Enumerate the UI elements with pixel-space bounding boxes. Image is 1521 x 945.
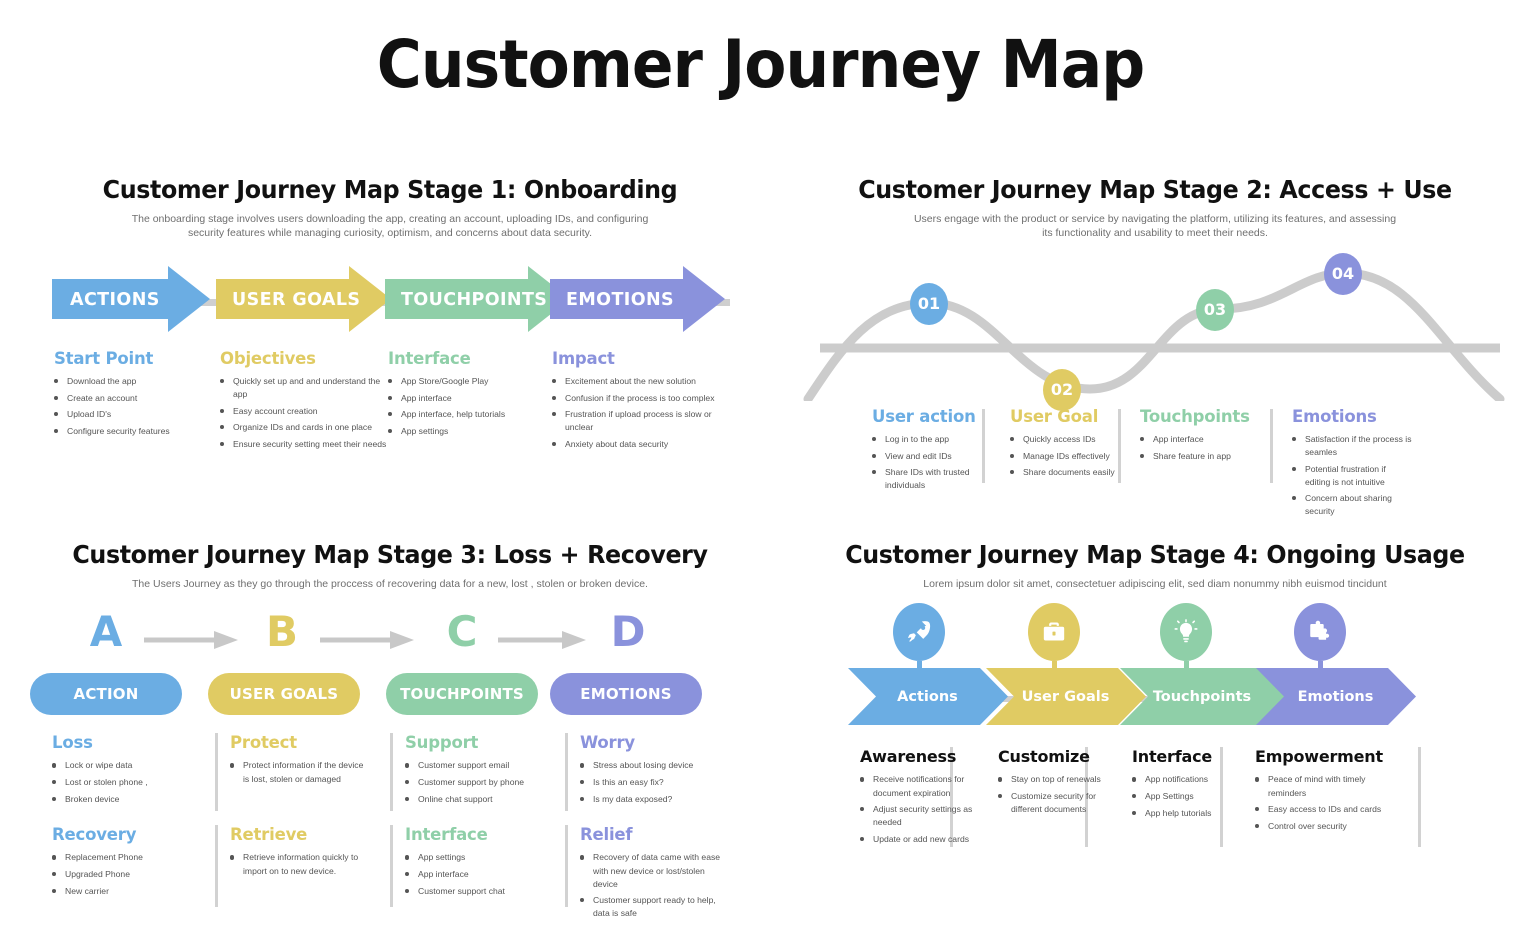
bullet-list: Quickly set up and and understand the ap… [220, 375, 395, 451]
list-item: App Store/Google Play [388, 375, 558, 388]
stage-1-panel: Customer Journey Map Stage 1: Onboarding… [20, 175, 760, 505]
page-title: Customer Journey Map [53, 26, 1468, 103]
list-item: Is my data exposed? [580, 793, 730, 806]
list-item: Easy access to IDs and cards [1255, 803, 1385, 816]
stage-2-title: Customer Journey Map Stage 2: Access + U… [818, 175, 1493, 204]
column-touchpoints: Touchpoints App interfaceShare feature i… [1140, 407, 1260, 466]
column-user-goal: User Goal Quickly access IDsManage IDs e… [1010, 407, 1115, 483]
column-heading: Support [405, 733, 555, 752]
column-heading: Objectives [220, 349, 395, 368]
column-divider [390, 733, 393, 811]
arrow-label-emotions[interactable]: EMOTIONS [550, 263, 720, 335]
list-item: Lock or wipe data [52, 759, 202, 772]
chevron-user-goals[interactable]: User Goals [988, 668, 1143, 725]
column-heading: Start Point [54, 349, 204, 368]
column-heading: Retrieve [230, 825, 375, 844]
column-support: Support Customer support emailCustomer s… [405, 733, 555, 809]
list-item: App notifications [1132, 773, 1247, 786]
pin-head [1160, 603, 1212, 661]
bullet-list: Peace of mind with timely remindersEasy … [1255, 773, 1385, 832]
stage-3-columns-row1: Loss Lock or wipe dataLost or stolen pho… [20, 733, 760, 823]
arrow-label-user-goals[interactable]: USER GOALS [216, 263, 386, 335]
pin-head [1028, 603, 1080, 661]
stage-4-title: Customer Journey Map Stage 4: Ongoing Us… [818, 540, 1493, 569]
stage-3-title: Customer Journey Map Stage 3: Loss + Rec… [39, 540, 742, 569]
list-item: Is this an easy fix? [580, 776, 730, 789]
stage-3-panel: Customer Journey Map Stage 3: Loss + Rec… [20, 540, 760, 930]
column-protect: Protect Protect information if the devic… [230, 733, 370, 789]
list-item: Download the app [54, 375, 204, 388]
pill-action[interactable]: ACTION [30, 673, 182, 715]
bullet-list: Quickly access IDsManage IDs effectively… [1010, 433, 1115, 479]
bullet-list: Protect information if the device is los… [230, 759, 370, 785]
column-heading: Interface [405, 825, 555, 844]
column-impact: Impact Excitement about the new solution… [552, 349, 717, 454]
list-item: Excitement about the new solution [552, 375, 717, 388]
lightbulb-icon [1173, 619, 1199, 645]
column-objectives: Objectives Quickly set up and and unders… [220, 349, 395, 454]
column-worry: Worry Stress about losing deviceIs this … [580, 733, 730, 809]
briefcase-icon [1041, 619, 1067, 645]
column-interface: Interface App Store/Google PlayApp inter… [388, 349, 558, 441]
bullet-list: Excitement about the new solutionConfusi… [552, 375, 717, 451]
column-divider [565, 825, 568, 907]
list-item: Peace of mind with timely reminders [1255, 773, 1385, 799]
pill-user-goals[interactable]: USER GOALS [208, 673, 360, 715]
column-loss: Loss Lock or wipe dataLost or stolen pho… [52, 733, 202, 809]
bullet-list: Download the appCreate an accountUpload … [54, 375, 204, 438]
list-item: Customer support email [405, 759, 555, 772]
stage-2-columns: User action Log in to the appView and ed… [800, 407, 1510, 527]
stage-3-pill-row: ACTION USER GOALS TOUCHPOINTS EMOTIONS [20, 673, 760, 717]
letter-a: A [84, 611, 128, 653]
column-heading: User action [872, 407, 977, 426]
column-heading: Emotions [1292, 407, 1412, 426]
list-item: Potential frustration if editing is not … [1292, 463, 1412, 489]
column-recovery: Recovery Replacement PhoneUpgraded Phone… [52, 825, 202, 901]
chevron-actions[interactable]: Actions [850, 668, 1005, 725]
list-item: Receive notifications for document expir… [860, 773, 980, 799]
list-item: App interface [1140, 433, 1260, 446]
column-empowerment: Empowerment Peace of mind with timely re… [1255, 747, 1385, 836]
stage-2-subtitle: Users engage with the product or service… [800, 212, 1510, 241]
column-heading: Touchpoints [1140, 407, 1260, 426]
list-item: Upgraded Phone [52, 868, 202, 881]
list-item: App interface, help tutorials [388, 408, 558, 421]
list-item: Anxiety about data security [552, 438, 717, 451]
stage-4-columns: Awareness Receive notifications for docu… [800, 747, 1510, 867]
bullet-list: Log in to the appView and edit IDsShare … [872, 433, 977, 492]
letter-b: B [260, 611, 304, 653]
column-divider [390, 825, 393, 907]
column-interface: Interface App notificationsApp SettingsA… [1132, 747, 1247, 823]
list-item: Customer support by phone [405, 776, 555, 789]
pin-head [893, 603, 945, 661]
puzzle-icon [1307, 619, 1333, 645]
list-item: Customer support chat [405, 885, 555, 898]
bullet-list: App settingsApp interfaceCustomer suppor… [405, 851, 555, 897]
list-item: Recovery of data came with ease with new… [580, 851, 730, 890]
column-awareness: Awareness Receive notifications for docu… [860, 747, 980, 849]
column-divider [982, 409, 985, 483]
list-item: Ensure security setting meet their needs [220, 438, 395, 451]
list-item: Adjust security settings as needed [860, 803, 980, 829]
list-item: Manage IDs effectively [1010, 450, 1115, 463]
list-item: App settings [405, 851, 555, 864]
list-item: Configure security features [54, 425, 204, 438]
column-divider [1270, 409, 1273, 483]
list-item: View and edit IDs [872, 450, 977, 463]
bullet-list: Receive notifications for document expir… [860, 773, 980, 845]
flow-arrow-bc [320, 629, 416, 651]
list-item: Share feature in app [1140, 450, 1260, 463]
list-item: Customer support ready to help, data is … [580, 894, 730, 920]
column-heading: Protect [230, 733, 370, 752]
column-retrieve: Retrieve Retrieve information quickly to… [230, 825, 375, 881]
wave-curve [800, 251, 1510, 401]
list-item: Create an account [54, 392, 204, 405]
bullet-list: Lock or wipe dataLost or stolen phone ,B… [52, 759, 202, 805]
stage-2-wave: 01 02 03 04 [800, 251, 1510, 401]
bullet-list: Satisfaction if the process is seamlesPo… [1292, 433, 1412, 518]
wave-node-04[interactable]: 04 [1324, 253, 1362, 295]
column-heading: Awareness [860, 747, 980, 766]
list-item: Stress about losing device [580, 759, 730, 772]
list-item: Control over security [1255, 820, 1385, 833]
column-customize: Customize Stay on top of renewalsCustomi… [998, 747, 1113, 819]
column-divider [215, 733, 218, 811]
column-divider [1418, 747, 1421, 847]
list-item: Broken device [52, 793, 202, 806]
bullet-list: Replacement PhoneUpgraded PhoneNew carri… [52, 851, 202, 897]
list-item: Upload ID's [54, 408, 204, 421]
list-item: Retrieve information quickly to import o… [230, 851, 375, 877]
column-divider [1118, 409, 1121, 483]
stage-1-columns: Start Point Download the appCreate an ac… [20, 349, 760, 479]
column-emotions: Emotions Satisfaction if the process is … [1292, 407, 1412, 522]
stage-4-subtitle: Lorem ipsum dolor sit amet, consectetuer… [800, 577, 1510, 591]
stage-1-arrow-band: ACTIONS USER GOALS TOUCHPOINTS EMOTIONS [20, 263, 760, 341]
stage-3-columns-row2: Recovery Replacement PhoneUpgraded Phone… [20, 825, 760, 920]
pin-head [1294, 603, 1346, 661]
stage-2-panel: Customer Journey Map Stage 2: Access + U… [800, 175, 1510, 505]
column-heading: Empowerment [1255, 747, 1385, 766]
arrow-label-touchpoints[interactable]: TOUCHPOINTS [385, 263, 565, 335]
bullet-list: Recovery of data came with ease with new… [580, 851, 730, 920]
bullet-list: Customer support emailCustomer support b… [405, 759, 555, 805]
flow-arrow-cd [498, 629, 588, 651]
column-heading: Impact [552, 349, 717, 368]
stage-3-letter-row: A B C D [20, 611, 760, 667]
column-heading: Relief [580, 825, 730, 844]
letter-d: D [606, 611, 650, 653]
letter-c: C [440, 611, 484, 653]
rocket-icon [906, 619, 932, 645]
list-item: Online chat support [405, 793, 555, 806]
chevron-emotions[interactable]: Emotions [1258, 668, 1413, 725]
stage-3-subtitle: The Users Journey as they go through the… [20, 577, 760, 591]
stage-4-chevron-row: Actions User Goals Touchpoints Emotions [800, 603, 1510, 743]
list-item: Share IDs with trusted individuals [872, 466, 977, 492]
column-divider [565, 733, 568, 811]
list-item: App help tutorials [1132, 807, 1247, 820]
list-item: Customize security for different documen… [998, 790, 1113, 816]
column-heading: Loss [52, 733, 202, 752]
list-item: App Settings [1132, 790, 1247, 803]
list-item: Concern about sharing security [1292, 492, 1412, 518]
column-user-action: User action Log in to the appView and ed… [872, 407, 977, 496]
column-heading: Worry [580, 733, 730, 752]
list-item: App interface [388, 392, 558, 405]
list-item: Log in to the app [872, 433, 977, 446]
bullet-list: App interfaceShare feature in app [1140, 433, 1260, 463]
pill-emotions[interactable]: EMOTIONS [550, 673, 702, 715]
list-item: Update or add new cards [860, 833, 980, 846]
stage-4-panel: Customer Journey Map Stage 4: Ongoing Us… [800, 540, 1510, 930]
column-heading: Recovery [52, 825, 202, 844]
bullet-list: App notificationsApp SettingsApp help tu… [1132, 773, 1247, 819]
list-item: Quickly set up and and understand the ap… [220, 375, 395, 401]
bullet-list: Stress about losing deviceIs this an eas… [580, 759, 730, 805]
bullet-list: App Store/Google PlayApp interfaceApp in… [388, 375, 558, 438]
stage-1-subtitle: The onboarding stage involves users down… [20, 212, 760, 241]
flow-arrow-ab [144, 629, 240, 651]
list-item: Share documents easily [1010, 466, 1115, 479]
list-item: Frustration if upload process is slow or… [552, 408, 717, 434]
list-item: Lost or stolen phone , [52, 776, 202, 789]
list-item: Organize IDs and cards in one place [220, 421, 395, 434]
column-heading: Customize [998, 747, 1113, 766]
pill-touchpoints[interactable]: TOUCHPOINTS [386, 673, 538, 715]
bullet-list: Stay on top of renewalsCustomize securit… [998, 773, 1113, 816]
wave-node-02[interactable]: 02 [1043, 369, 1081, 411]
list-item: Satisfaction if the process is seamles [1292, 433, 1412, 459]
column-heading: Interface [388, 349, 558, 368]
list-item: Easy account creation [220, 405, 395, 418]
column-heading: Interface [1132, 747, 1247, 766]
column-interface: Interface App settingsApp interfaceCusto… [405, 825, 555, 901]
list-item: App settings [388, 425, 558, 438]
list-item: Replacement Phone [52, 851, 202, 864]
list-item: Quickly access IDs [1010, 433, 1115, 446]
infographic-canvas: Customer Journey Map Customer Journey Ma… [0, 0, 1521, 945]
list-item: Protect information if the device is los… [230, 759, 370, 785]
list-item: App interface [405, 868, 555, 881]
list-item: Confusion if the process is too complex [552, 392, 717, 405]
stage-1-title: Customer Journey Map Stage 1: Onboarding [39, 175, 742, 204]
list-item: New carrier [52, 885, 202, 898]
bullet-list: Retrieve information quickly to import o… [230, 851, 375, 877]
arrow-label-actions[interactable]: ACTIONS [54, 263, 204, 335]
column-start-point: Start Point Download the appCreate an ac… [54, 349, 204, 441]
list-item: Stay on top of renewals [998, 773, 1113, 786]
wave-node-03[interactable]: 03 [1196, 289, 1234, 331]
column-heading: User Goal [1010, 407, 1115, 426]
column-divider [215, 825, 218, 907]
column-relief: Relief Recovery of data came with ease w… [580, 825, 730, 923]
wave-node-01[interactable]: 01 [910, 283, 948, 325]
